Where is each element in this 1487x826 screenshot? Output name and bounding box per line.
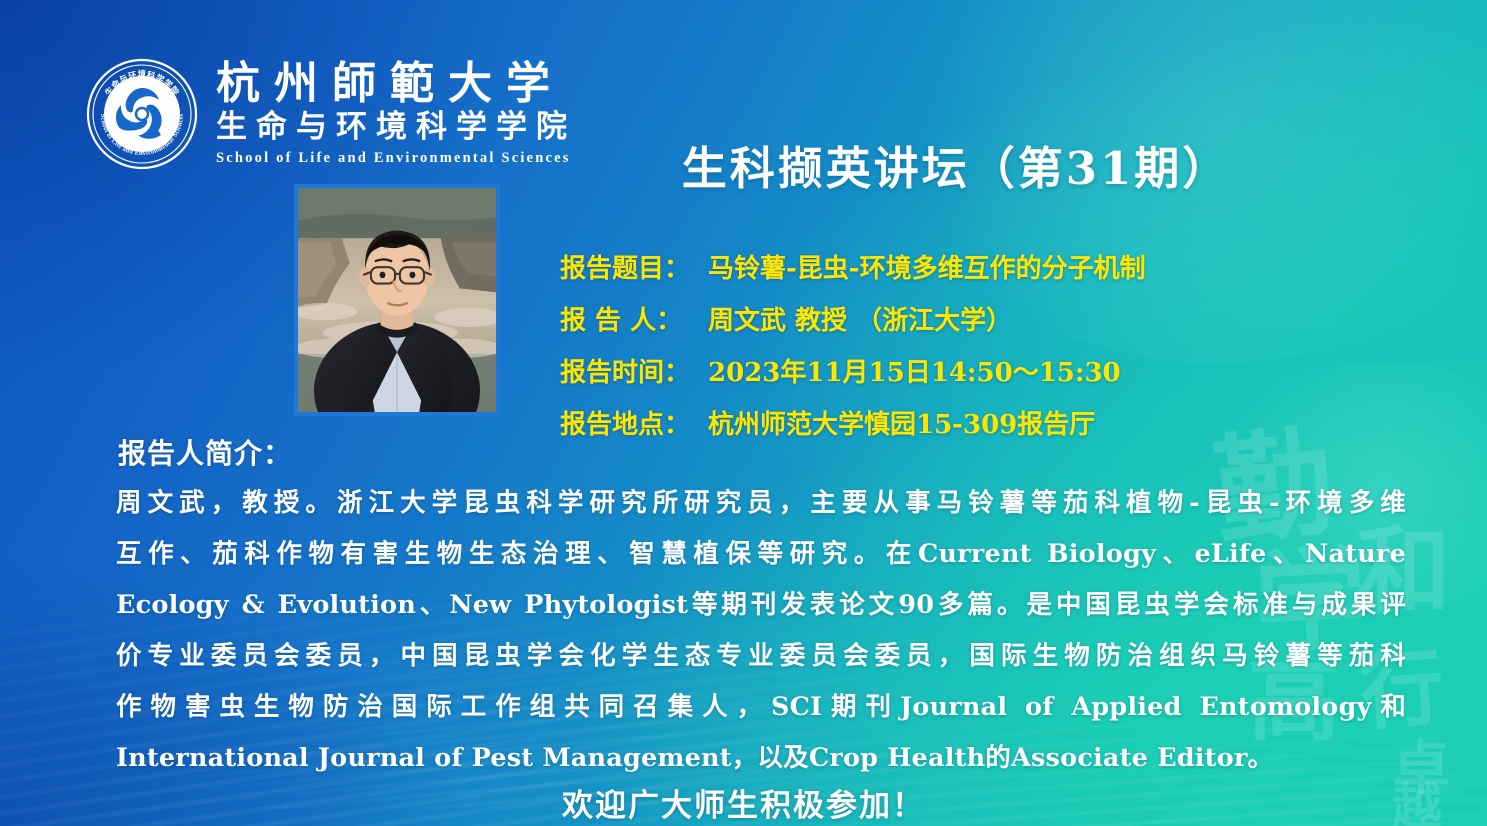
university-name-cn: 杭州師範大学 xyxy=(216,62,576,106)
speaker-portrait-image xyxy=(298,188,496,412)
info-value-speaker: 周文武 教授 （浙江大学） xyxy=(708,300,1280,337)
poster-title: 生科撷英讲坛（第31期） xyxy=(636,132,1276,197)
bio-line: 价专业委员会委员，中国昆虫学会化学生态专业委员会委员，国际生物防治组织马铃薯等茄… xyxy=(116,631,1406,682)
seminar-poster: 勤 学 和 高 行 卓 越 生命与环境科学学院 School of Life a… xyxy=(0,0,1487,826)
bio-line: 周文武，教授。浙江大学昆虫科学研究所研究员，主要从事马铃薯等茄科植物-昆虫-环境… xyxy=(116,478,1406,529)
bio-line: 互作、茄科作物有害生物生态治理、智慧植保等研究。在Current Biology… xyxy=(116,529,1406,580)
info-label-speaker: 报 告 人： xyxy=(560,300,708,337)
info-value-time: 2023年11月15日14:50～15:30 xyxy=(708,352,1280,389)
info-row-speaker: 报 告 人： 周文武 教授 （浙江大学） xyxy=(560,300,1280,337)
bio-line: Ecology & Evolution、New Phytologist等期刊发表… xyxy=(116,580,1406,631)
info-label-topic: 报告题目： xyxy=(560,248,708,285)
info-label-venue: 报告地点： xyxy=(560,404,708,441)
info-row-venue: 报告地点： 杭州师范大学慎园15-309报告厅 xyxy=(560,404,1280,441)
speaker-photo xyxy=(294,184,500,416)
info-label-time: 报告时间： xyxy=(560,352,708,389)
info-row-topic: 报告题目： 马铃薯-昆虫-环境多维互作的分子机制 xyxy=(560,248,1280,285)
school-name-en: School of Life and Environmental Science… xyxy=(216,151,576,166)
bio-line: International Journal of Pest Management… xyxy=(116,733,1406,784)
welcome-call-to-action: 欢迎广大师生积极参加！ xyxy=(0,780,1487,825)
bio-line: 作物害虫生物防治国际工作组共同召集人，SCI期刊Journal of Appli… xyxy=(116,682,1406,733)
university-seal-icon: 生命与环境科学学院 School of Life and Environment… xyxy=(86,58,198,170)
institution-wordmark: 杭州師範大学 生命与环境科学学院 School of Life and Envi… xyxy=(216,62,576,166)
info-value-venue: 杭州师范大学慎园15-309报告厅 xyxy=(708,404,1280,441)
school-name-cn: 生命与环境科学学院 xyxy=(216,112,576,143)
institution-header: 生命与环境科学学院 School of Life and Environment… xyxy=(86,58,576,170)
bio-heading: 报告人简介： xyxy=(118,432,292,472)
seminar-info-block: 报告题目： 马铃薯-昆虫-环境多维互作的分子机制 报 告 人： 周文武 教授 （… xyxy=(560,248,1280,456)
info-row-time: 报告时间： 2023年11月15日14:50～15:30 xyxy=(560,352,1280,389)
info-value-topic: 马铃薯-昆虫-环境多维互作的分子机制 xyxy=(708,248,1280,285)
bio-body: 周文武，教授。浙江大学昆虫科学研究所研究员，主要从事马铃薯等茄科植物-昆虫-环境… xyxy=(116,478,1406,784)
